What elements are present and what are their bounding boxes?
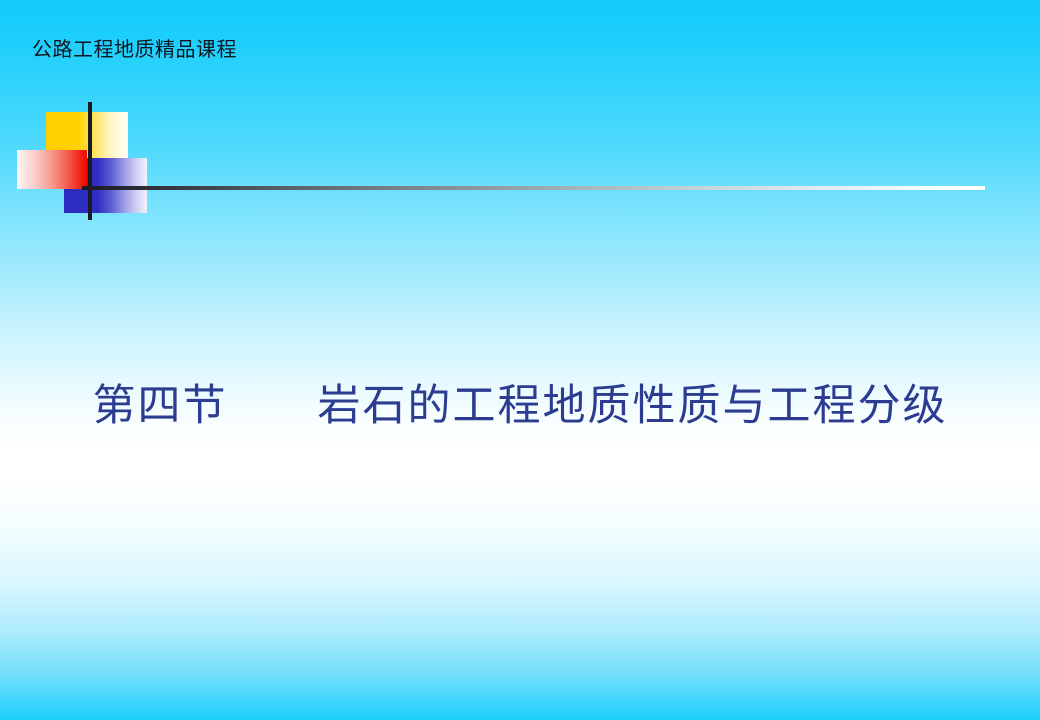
- vertical-rule-divider: [88, 102, 92, 220]
- blue-square-icon: [64, 158, 147, 213]
- presentation-slide: 公路工程地质精品课程 第四节 岩石的工程地质性质与工程分级: [0, 0, 1040, 720]
- course-header-text: 公路工程地质精品课程: [32, 36, 237, 62]
- red-square-icon: [17, 150, 87, 189]
- slide-title: 第四节 岩石的工程地质性质与工程分级: [0, 377, 1040, 435]
- yellow-square-icon: [46, 112, 128, 188]
- horizontal-rule-divider: [82, 186, 985, 190]
